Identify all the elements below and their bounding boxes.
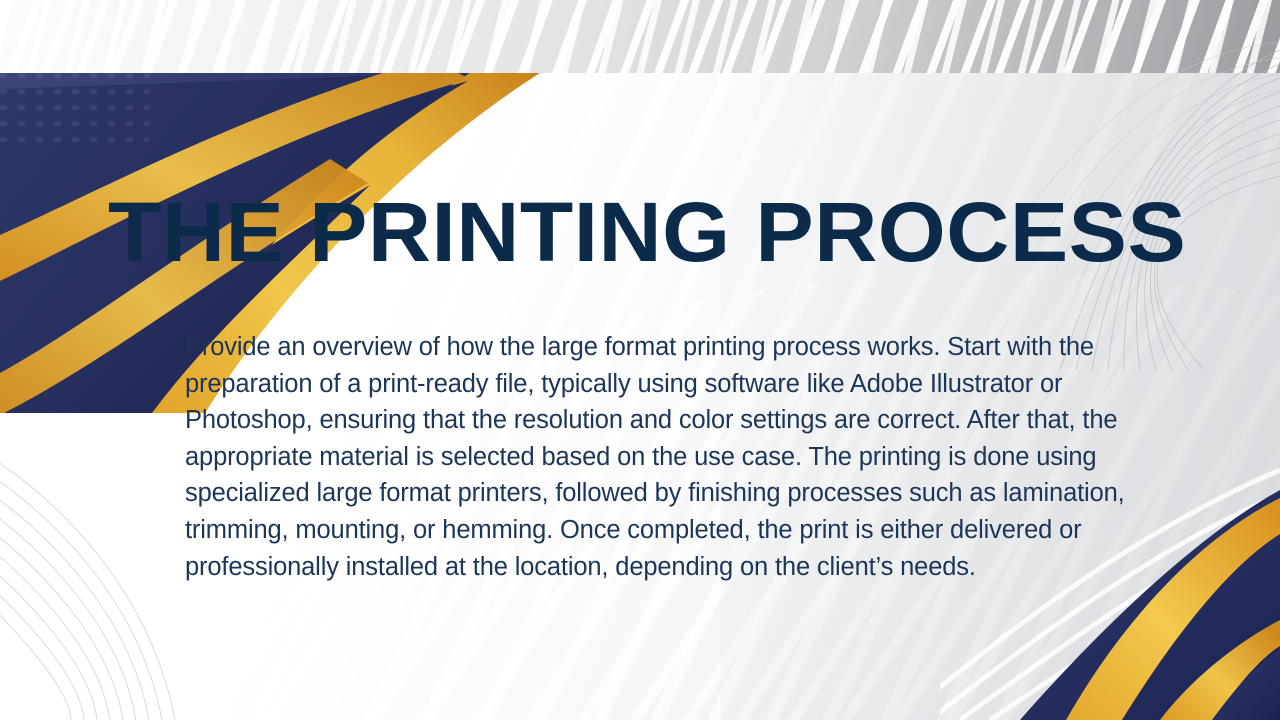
diagonal-stripes-pattern-secondary bbox=[0, 0, 1280, 73]
page-title: THE PRINTING PROCESS bbox=[108, 188, 1186, 276]
body-paragraph: Provide an overview of how the large for… bbox=[185, 329, 1175, 585]
presentation-slide: THE PRINTING PROCESS Provide an overview… bbox=[0, 0, 1280, 720]
top-decorative-strip bbox=[0, 0, 1280, 73]
